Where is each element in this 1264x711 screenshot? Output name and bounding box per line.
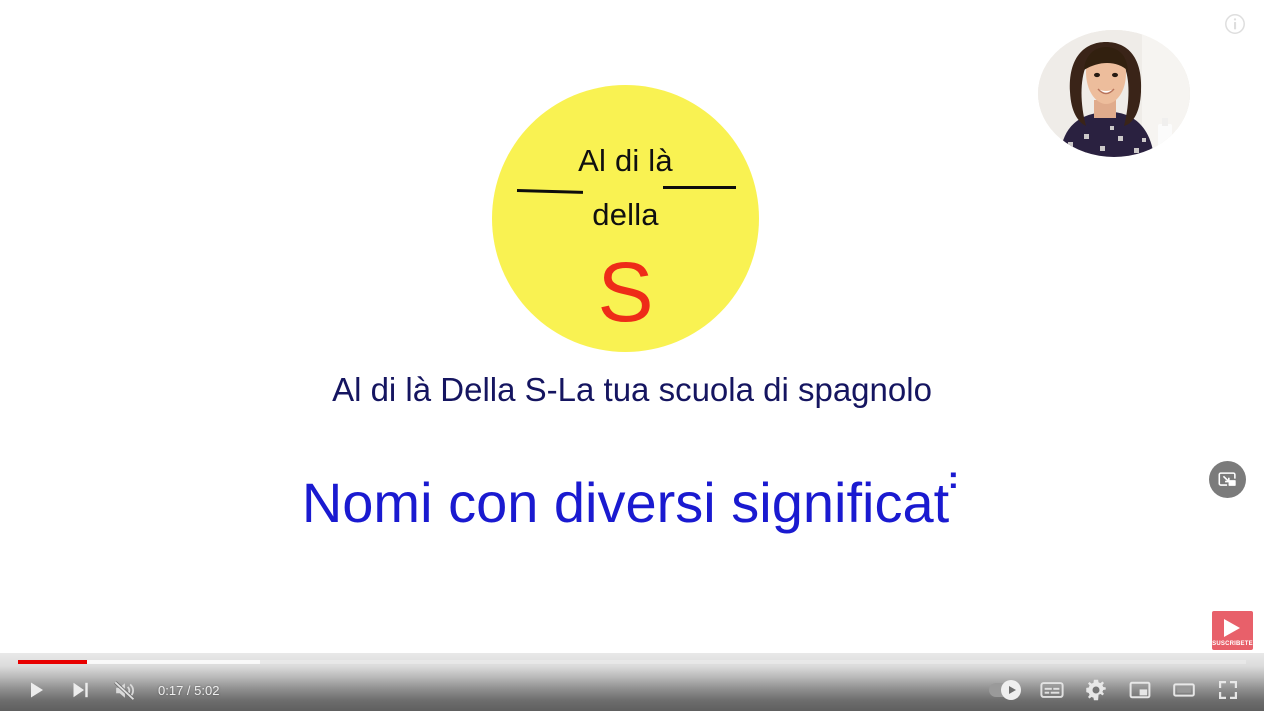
side-miniplayer-button[interactable] <box>1209 461 1246 498</box>
logo-line-1: Al di là <box>492 143 759 179</box>
channel-name-text: Al di là Della S-La tua scuola di spagno… <box>0 371 1264 409</box>
autoplay-track <box>989 683 1019 697</box>
video-frame[interactable]: Al di là della S Al di là Della S-La tua… <box>0 0 1264 711</box>
logo-letter-s: S <box>492 250 759 334</box>
logo-rule-right <box>663 186 736 189</box>
autoplay-toggle[interactable] <box>978 671 1030 709</box>
slide-heading-visible: Nomi con diversi significat <box>302 471 949 534</box>
volume-button[interactable] <box>102 671 146 709</box>
subscribe-watermark-label: SUSCRIBETE <box>1212 641 1253 647</box>
play-triangle-icon <box>1009 686 1016 694</box>
avatar <box>1038 30 1190 157</box>
left-controls: 0:17 / 5:02 <box>14 671 225 709</box>
miniplayer-icon <box>1128 678 1152 702</box>
miniplayer-button[interactable] <box>1118 671 1162 709</box>
subtitles-button[interactable] <box>1030 671 1074 709</box>
gear-icon <box>1084 678 1108 702</box>
right-controls <box>978 671 1250 709</box>
miniplayer-icon <box>1217 469 1239 491</box>
subscribe-watermark-button[interactable]: SUSCRIBETE <box>1212 611 1253 650</box>
fullscreen-button[interactable] <box>1206 671 1250 709</box>
slide-heading-partial-char: i <box>949 466 962 522</box>
subtitles-icon <box>1039 677 1065 703</box>
info-button[interactable] <box>1223 12 1247 36</box>
progress-played <box>18 660 87 664</box>
next-track-icon <box>68 678 92 702</box>
time-display: 0:17 / 5:02 <box>158 683 219 698</box>
progress-bar[interactable] <box>18 660 1246 664</box>
player-control-bar[interactable]: 0:17 / 5:02 <box>0 653 1264 711</box>
slide-heading: Nomi con diversi significati <box>0 466 1264 535</box>
video-player[interactable]: Al di là della S Al di là Della S-La tua… <box>0 0 1264 711</box>
next-button[interactable] <box>58 671 102 709</box>
theater-mode-icon <box>1172 678 1196 702</box>
volume-muted-icon <box>112 678 137 703</box>
logo-line-2: della <box>492 197 759 233</box>
settings-button[interactable] <box>1074 671 1118 709</box>
theater-mode-button[interactable] <box>1162 671 1206 709</box>
fullscreen-icon <box>1216 678 1240 702</box>
play-triangle-icon <box>1224 619 1240 637</box>
play-button[interactable] <box>14 671 58 709</box>
autoplay-knob <box>1001 680 1021 700</box>
play-icon <box>24 678 48 702</box>
